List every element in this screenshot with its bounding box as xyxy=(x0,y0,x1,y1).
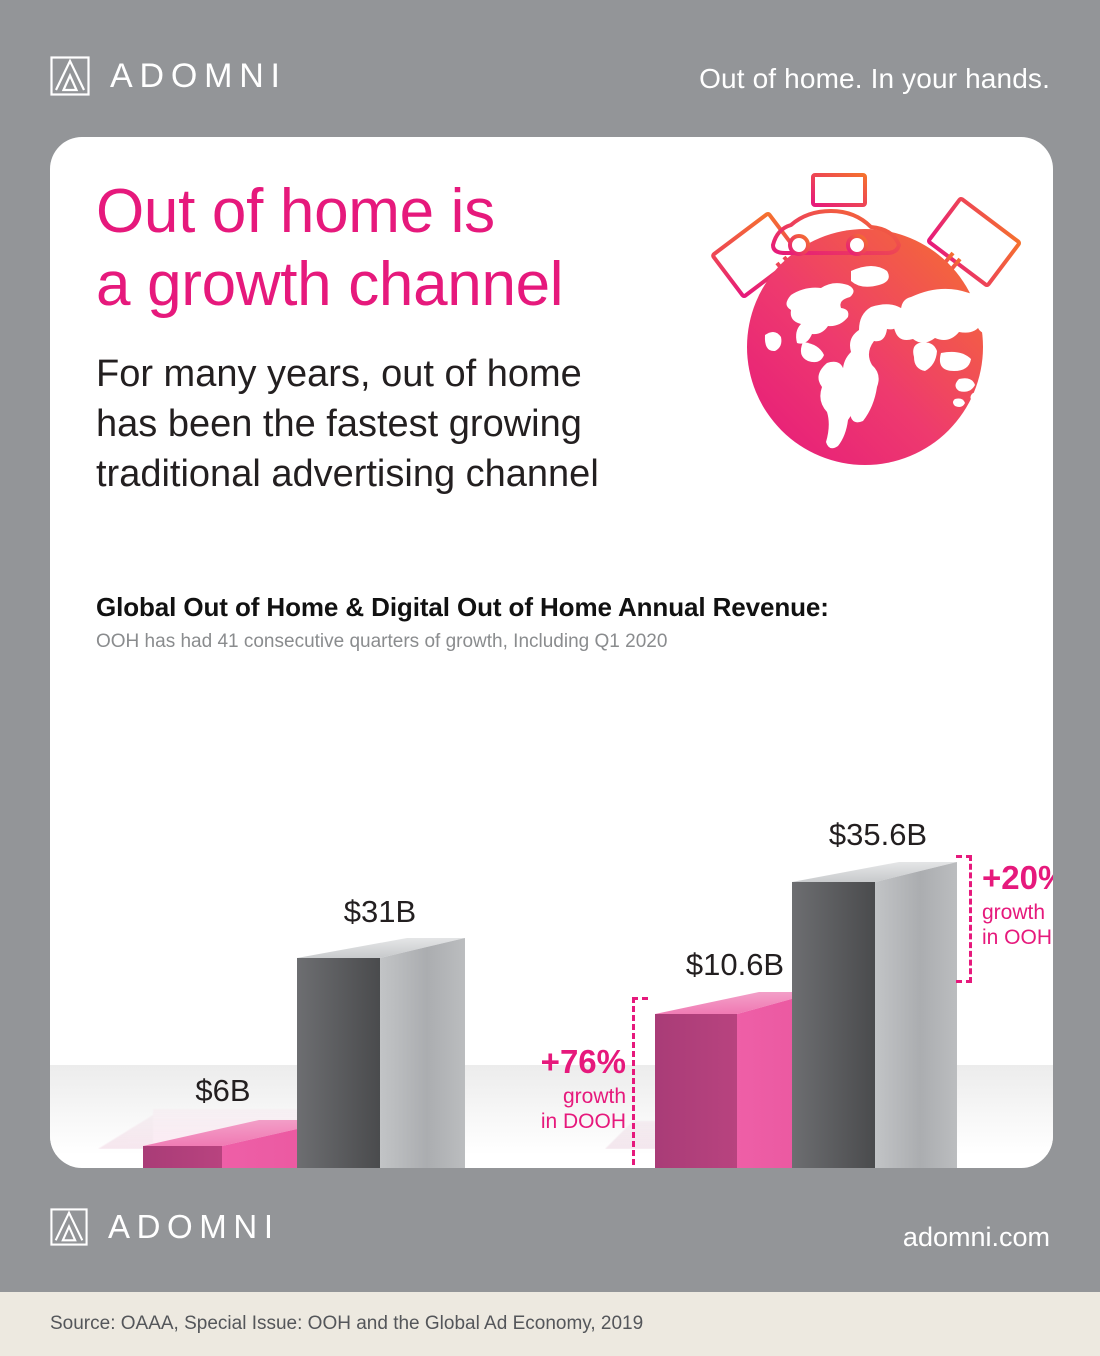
bar-value-dooh-2023: $10.6B xyxy=(660,947,810,983)
header-tagline: Out of home. In your hands. xyxy=(699,63,1050,95)
annotation-dooh-growth: +76% growth in DOOH xyxy=(478,997,648,1168)
annotation-ooh-caption: growth in OOH xyxy=(982,901,1052,951)
header-logo[interactable]: ADOMNI xyxy=(50,56,287,96)
annotation-dooh-caption: growth in DOOH xyxy=(541,1085,626,1135)
source-text: Source: OAAA, Special Issue: OOH and the… xyxy=(50,1313,643,1335)
bar-ooh-2018 xyxy=(297,938,465,1168)
annotation-ooh-bracket xyxy=(956,855,972,983)
bar-ooh-2023 xyxy=(792,862,957,1168)
hero-subhead: For many years, out of home has been the… xyxy=(96,349,599,499)
source-bar: Source: OAAA, Special Issue: OOH and the… xyxy=(0,1292,1100,1356)
bar-value-ooh-2018: $31B xyxy=(315,894,445,930)
footer-url[interactable]: adomni.com xyxy=(903,1222,1050,1253)
bar-chart: $6B xyxy=(50,657,1053,1167)
hero-headline: Out of home is a growth channel xyxy=(96,175,563,321)
footer-logo[interactable]: ADOMNI xyxy=(50,1208,280,1246)
bar-value-dooh-2018: $6B xyxy=(158,1073,288,1109)
annotation-dooh-bracket xyxy=(632,997,648,1168)
annotation-ooh-growth: +20% growth in OOH xyxy=(956,855,1053,987)
adomni-mark-icon xyxy=(50,1208,88,1246)
globe-with-billboards-icon xyxy=(705,167,1025,497)
header-logo-text: ADOMNI xyxy=(110,57,287,96)
adomni-mark-icon xyxy=(50,56,90,96)
infographic-poster: ADOMNI Out of home. In your hands. Out o… xyxy=(0,0,1100,1356)
page-footer: ADOMNI adomni.com xyxy=(0,1168,1100,1292)
bar-value-ooh-2023: $35.6B xyxy=(798,817,958,853)
chart-subtitle: OOH has had 41 consecutive quarters of g… xyxy=(96,631,667,653)
footer-logo-text: ADOMNI xyxy=(108,1208,280,1246)
content-card: Out of home is a growth channel For many… xyxy=(50,137,1053,1168)
page-header: ADOMNI Out of home. In your hands. xyxy=(0,0,1100,137)
annotation-dooh-percent: +76% xyxy=(541,1045,626,1078)
annotation-ooh-percent: +20% xyxy=(982,861,1053,894)
chart-title: Global Out of Home & Digital Out of Home… xyxy=(96,592,829,623)
